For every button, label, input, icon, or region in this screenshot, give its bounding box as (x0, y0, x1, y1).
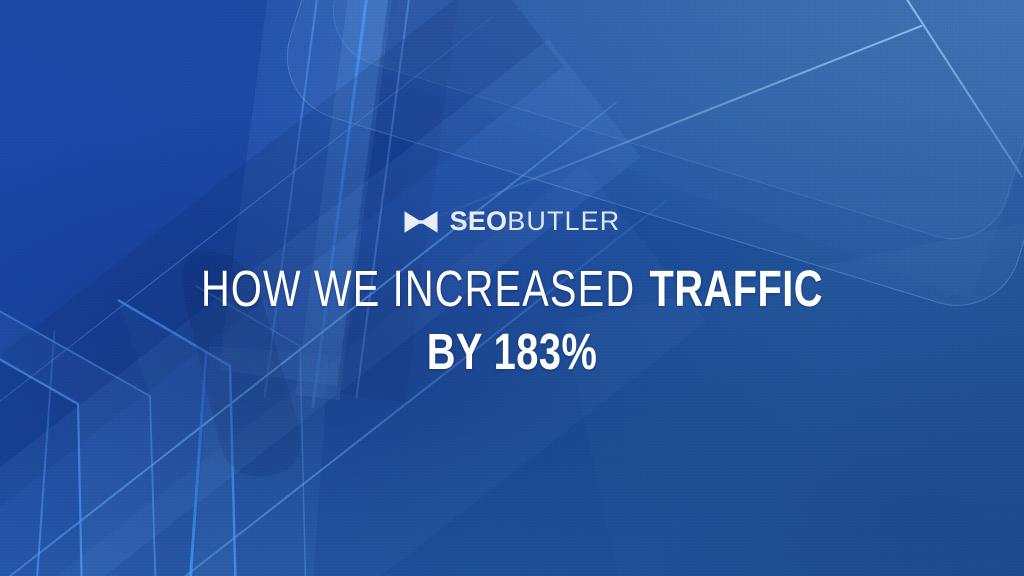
brand-name-light: BUTLER (507, 206, 620, 236)
brand-logo: SEOBUTLER (0, 208, 1024, 235)
headline-line-1: HOW WE INCREASEDTRAFFIC (113, 262, 912, 316)
brand-name-bold: SEO (450, 206, 508, 236)
headline-bold-text: TRAFFIC (635, 260, 823, 317)
bowtie-icon (404, 210, 438, 234)
brand-wordmark: SEOBUTLER (450, 208, 621, 235)
headline-block: HOW WE INCREASEDTRAFFIC BY 183% (0, 262, 1024, 379)
slide-content: SEOBUTLER HOW WE INCREASEDTRAFFIC BY 183… (0, 0, 1024, 576)
headline-light-text: HOW WE INCREASED (201, 260, 635, 317)
headline-line-2: BY 183% (113, 325, 912, 379)
slide-canvas: SEOBUTLER HOW WE INCREASEDTRAFFIC BY 183… (0, 0, 1024, 576)
